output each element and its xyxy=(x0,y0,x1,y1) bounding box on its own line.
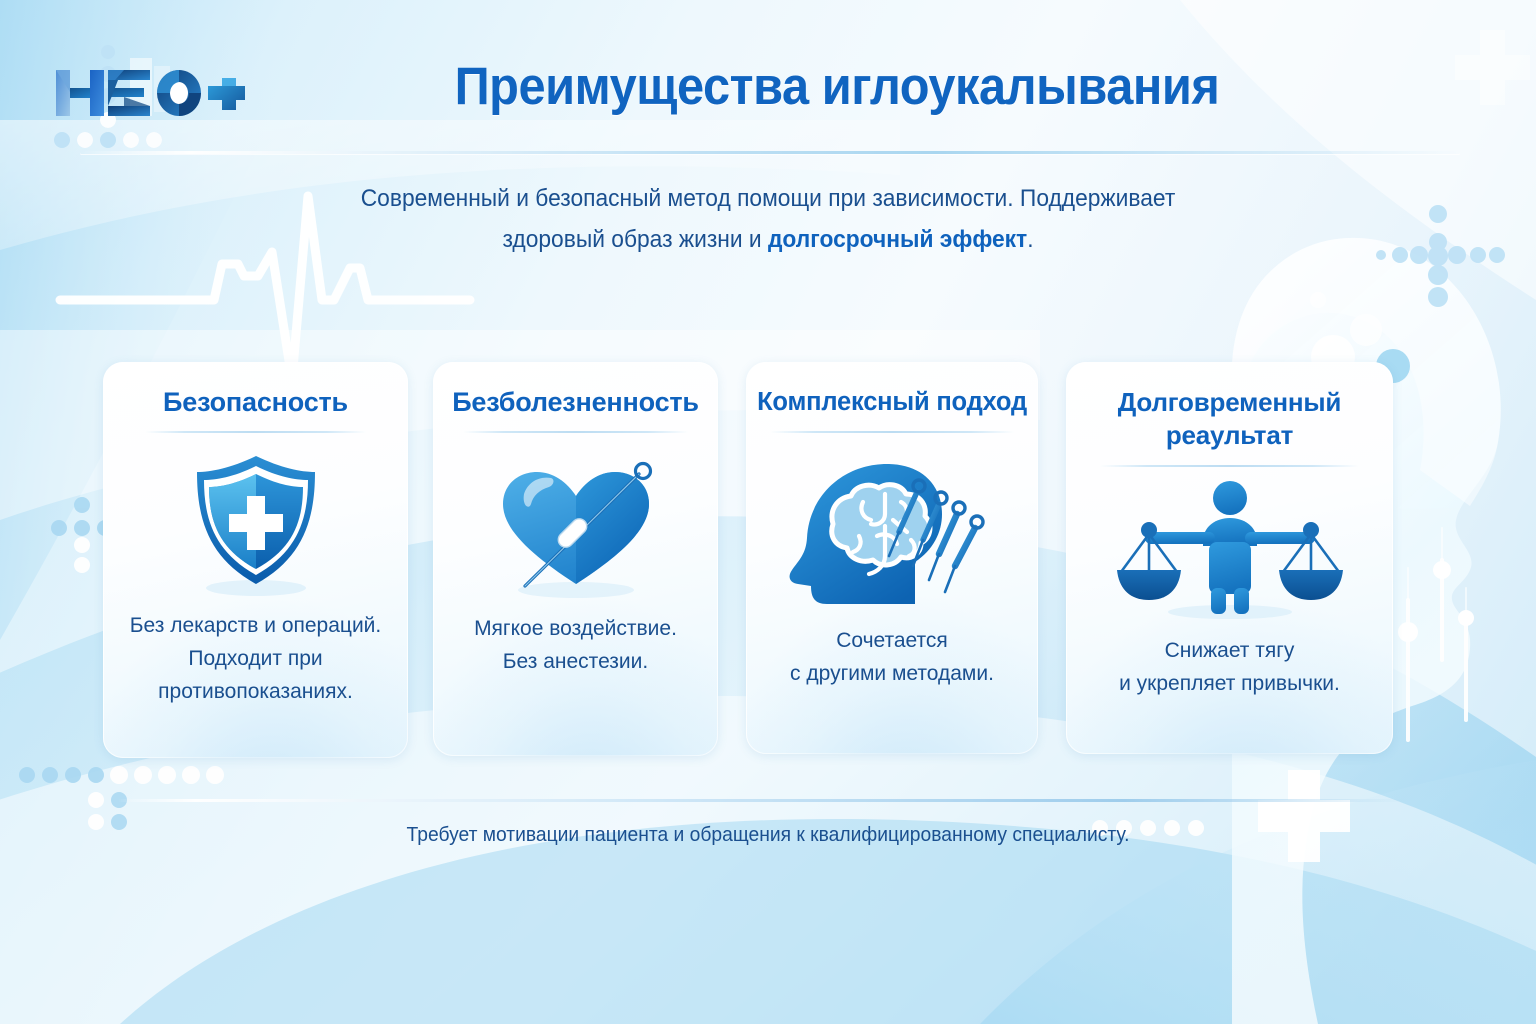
card-body-line-3: противопоказаниях. xyxy=(115,675,396,708)
card-divider xyxy=(770,431,1014,433)
card-body-line-1: Мягкое воздействие. xyxy=(445,612,706,645)
infographic-canvas: Преимущества иглоукалывания Современный … xyxy=(0,0,1536,1024)
benefit-card-safety[interactable]: Безопасность xyxy=(103,362,408,758)
card-divider xyxy=(463,431,688,433)
card-body: Без лекарств и операций. Подходит при пр… xyxy=(115,609,396,708)
benefit-cards: Безопасность xyxy=(103,362,1393,760)
card-title-line-2: реаультат xyxy=(1074,419,1385,452)
card-body-line-2: с другими методами. xyxy=(758,657,1026,690)
card-body: Снижает тягу и укрепляет привычки. xyxy=(1078,634,1381,700)
page-header: Преимущества иглоукалывания xyxy=(0,0,1536,152)
card-body-line-2: Без анестезии. xyxy=(445,645,706,678)
card-title-line-1: Долговременный xyxy=(1074,386,1385,419)
card-body-line-2: Подходит при xyxy=(115,642,396,675)
person-scales-balance-icon xyxy=(1066,480,1393,620)
card-title: Долговременный реаультат xyxy=(1074,386,1385,452)
subtitle-line-1: Современный и безопасный метод помощи пр… xyxy=(303,178,1233,219)
subtitle-line-2-prefix: здоровый образ жизни и xyxy=(502,226,768,253)
card-body-line-1: Без лекарств и операций. xyxy=(115,609,396,642)
benefit-card-complex-approach[interactable]: Комплексный подход xyxy=(746,362,1038,754)
benefit-card-painless[interactable]: Безболезненность xyxy=(433,362,718,756)
footer-note: Требует мотивации пациента и обращения к… xyxy=(46,823,1490,847)
card-title: Комплексный подход xyxy=(754,386,1030,419)
card-body-line-2: и укрепляет привычки. xyxy=(1078,667,1381,700)
subtitle: Современный и безопасный метод помощи пр… xyxy=(303,178,1233,260)
shield-cross-icon xyxy=(103,450,408,598)
subtitle-highlight: долгосрочный эффект xyxy=(768,226,1027,253)
card-body-line-1: Сочетается xyxy=(758,624,1026,657)
card-body-line-1: Снижает тягу xyxy=(1078,634,1381,667)
card-body: Сочетается с другими методами. xyxy=(758,624,1026,690)
benefit-card-long-term-result[interactable]: Долговременный реаультат xyxy=(1066,362,1393,754)
subtitle-line-2-suffix: . xyxy=(1027,226,1033,253)
card-title: Безболезненность xyxy=(441,386,710,419)
card-body: Мягкое воздействие. Без анестезии. xyxy=(445,612,706,678)
card-divider xyxy=(145,431,366,433)
footer-divider xyxy=(118,799,1408,802)
page-title: Преимущества иглоукалывания xyxy=(61,56,1474,117)
header-divider xyxy=(80,151,1460,154)
subtitle-line-2: здоровый образ жизни и долгосрочный эффе… xyxy=(303,219,1233,260)
heart-needle-icon xyxy=(433,452,718,600)
card-title: Безопасность xyxy=(111,386,400,419)
head-brain-needles-icon xyxy=(746,450,1038,610)
card-divider xyxy=(1100,465,1359,467)
